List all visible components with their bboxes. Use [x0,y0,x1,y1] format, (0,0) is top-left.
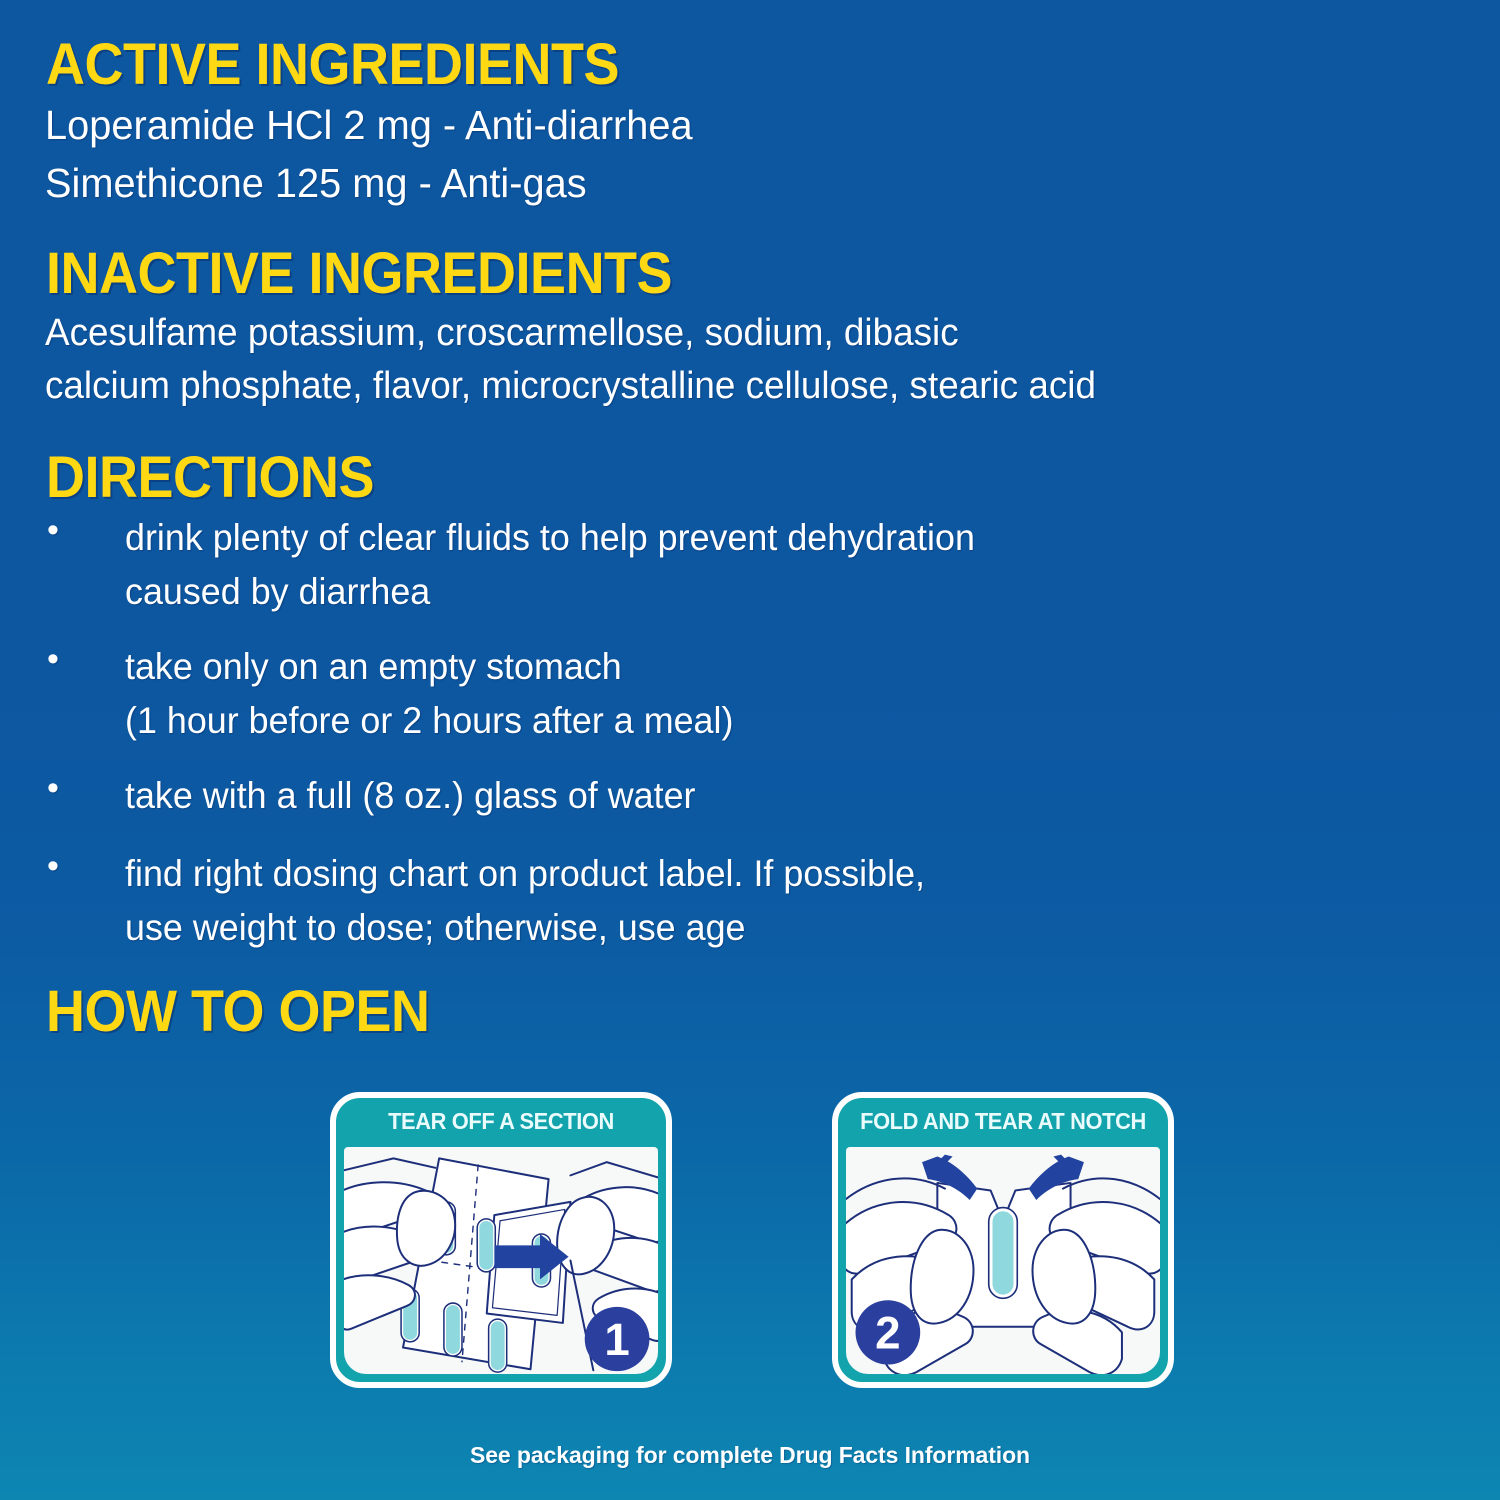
fold-and-tear-at-notch-illustration: 2 [846,1147,1160,1374]
directions-bullet-2: • take only on an empty stomach (1 hour … [45,640,752,748]
bullet-dot-icon: • [45,847,125,886]
directions-heading: DIRECTIONS [46,444,374,511]
how-to-open-panel-2-title: FOLD AND TEAR AT NOTCH [846,1098,1160,1145]
active-ingredient-line-1: Loperamide HCl 2 mg - Anti-diarrhea [45,102,693,149]
active-ingredient-line-2: Simethicone 125 mg - Anti-gas [45,160,587,207]
tear-off-section-illustration: 1 [344,1147,658,1374]
how-to-open-heading: HOW TO OPEN [46,978,429,1045]
product-info-panel: ACTIVE INGREDIENTS Loperamide HCl 2 mg -… [0,0,1500,1500]
how-to-open-panel-2-step-number: 2 [875,1308,900,1359]
directions-bullet-3-text: take with a full (8 oz.) glass of water [125,769,695,823]
bullet-dot-icon: • [45,769,125,808]
bullet-dot-icon: • [45,640,125,679]
inactive-ingredient-line-1: Acesulfame potassium, croscarmellose, so… [45,312,959,355]
active-ingredients-heading: ACTIVE INGREDIENTS [46,31,619,98]
directions-bullet-4: • find right dosing chart on product lab… [45,847,950,955]
directions-bullet-3: • take with a full (8 oz.) glass of wate… [45,769,713,823]
inactive-ingredient-line-2: calcium phosphate, flavor, microcrystall… [45,365,1096,408]
directions-bullet-4-text: find right dosing chart on product label… [125,847,925,955]
how-to-open-panel-1-title: TEAR OFF A SECTION [344,1098,658,1145]
how-to-open-panel-1-step-number: 1 [604,1314,629,1365]
bullet-dot-icon: • [45,511,125,550]
directions-bullet-2-text: take only on an empty stomach (1 hour be… [125,640,733,748]
how-to-open-panel-2: FOLD AND TEAR AT NOTCH [832,1092,1174,1388]
inactive-ingredients-heading: INACTIVE INGREDIENTS [46,240,672,307]
directions-bullet-1: • drink plenty of clear fluids to help p… [45,511,1001,619]
how-to-open-panel-1: TEAR OFF A SECTION [330,1092,672,1388]
packaging-note: See packaging for complete Drug Facts In… [0,1442,1500,1469]
directions-bullet-1-text: drink plenty of clear fluids to help pre… [125,511,975,619]
